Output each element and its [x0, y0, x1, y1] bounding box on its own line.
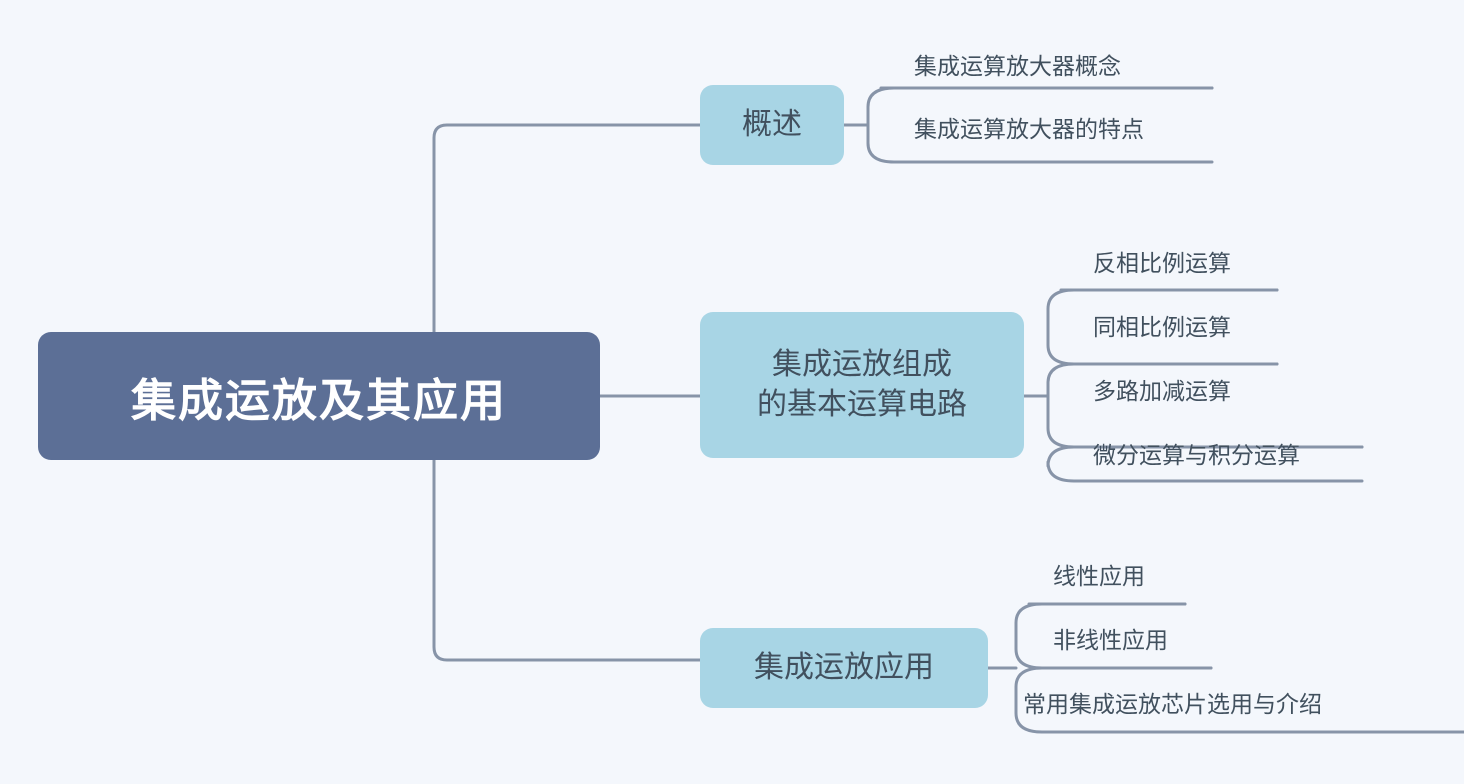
root-node-label: 集成运放及其应用	[131, 364, 507, 429]
branch2-bracket-mid	[1048, 364, 1362, 447]
branch-node-applications[interactable]: 集成运放应用	[700, 628, 988, 708]
leaf-node-common-chips[interactable]: 常用集成运放芯片选用与介绍	[1023, 693, 1322, 716]
branch-node-applications-label: 集成运放应用	[754, 648, 934, 688]
leaf-node-multichannel-add-sub[interactable]: 多路加减运算	[1093, 380, 1231, 403]
leaf-node-op-amp-features-label: 集成运算放大器的特点	[914, 116, 1144, 142]
leaf-node-multichannel-add-sub-label: 多路加减运算	[1093, 378, 1231, 404]
leaf-node-op-amp-concept[interactable]: 集成运算放大器概念	[914, 55, 1121, 78]
leaf-node-op-amp-concept-label: 集成运算放大器概念	[914, 53, 1121, 79]
leaf-node-common-chips-label: 常用集成运放芯片选用与介绍	[1023, 691, 1322, 717]
branch-node-basic-circuits[interactable]: 集成运放组成 的基本运算电路	[700, 312, 1024, 458]
leaf-node-nonlinear-application[interactable]: 非线性应用	[1053, 629, 1168, 652]
leaf-node-differential-integral[interactable]: 微分运算与积分运算	[1093, 444, 1300, 467]
leaf-node-linear-application-label: 线性应用	[1053, 563, 1145, 589]
branch-node-overview[interactable]: 概述	[700, 85, 844, 165]
leaf-node-nonlinear-application-label: 非线性应用	[1053, 627, 1168, 653]
branch-node-basic-circuits-label-line2: 的基本运算电路	[757, 385, 967, 425]
branch-node-overview-label: 概述	[742, 105, 802, 145]
leaf-node-inverting-proportional-label: 反相比例运算	[1093, 250, 1231, 276]
branch-node-basic-circuits-label-line1: 集成运放组成	[772, 345, 952, 385]
root-node[interactable]: 集成运放及其应用	[38, 332, 600, 460]
leaf-node-differential-integral-label: 微分运算与积分运算	[1093, 442, 1300, 468]
leaf-node-op-amp-features[interactable]: 集成运算放大器的特点	[914, 118, 1144, 141]
leaf-node-noninverting-proportional[interactable]: 同相比例运算	[1093, 316, 1231, 339]
leaf-node-inverting-proportional[interactable]: 反相比例运算	[1093, 252, 1231, 275]
leaf-node-linear-application[interactable]: 线性应用	[1053, 565, 1145, 588]
leaf-node-noninverting-proportional-label: 同相比例运算	[1093, 314, 1231, 340]
mindmap-canvas: 集成运放及其应用 概述 集成运放组成 的基本运算电路 集成运放应用 集成运算放大…	[0, 0, 1464, 784]
